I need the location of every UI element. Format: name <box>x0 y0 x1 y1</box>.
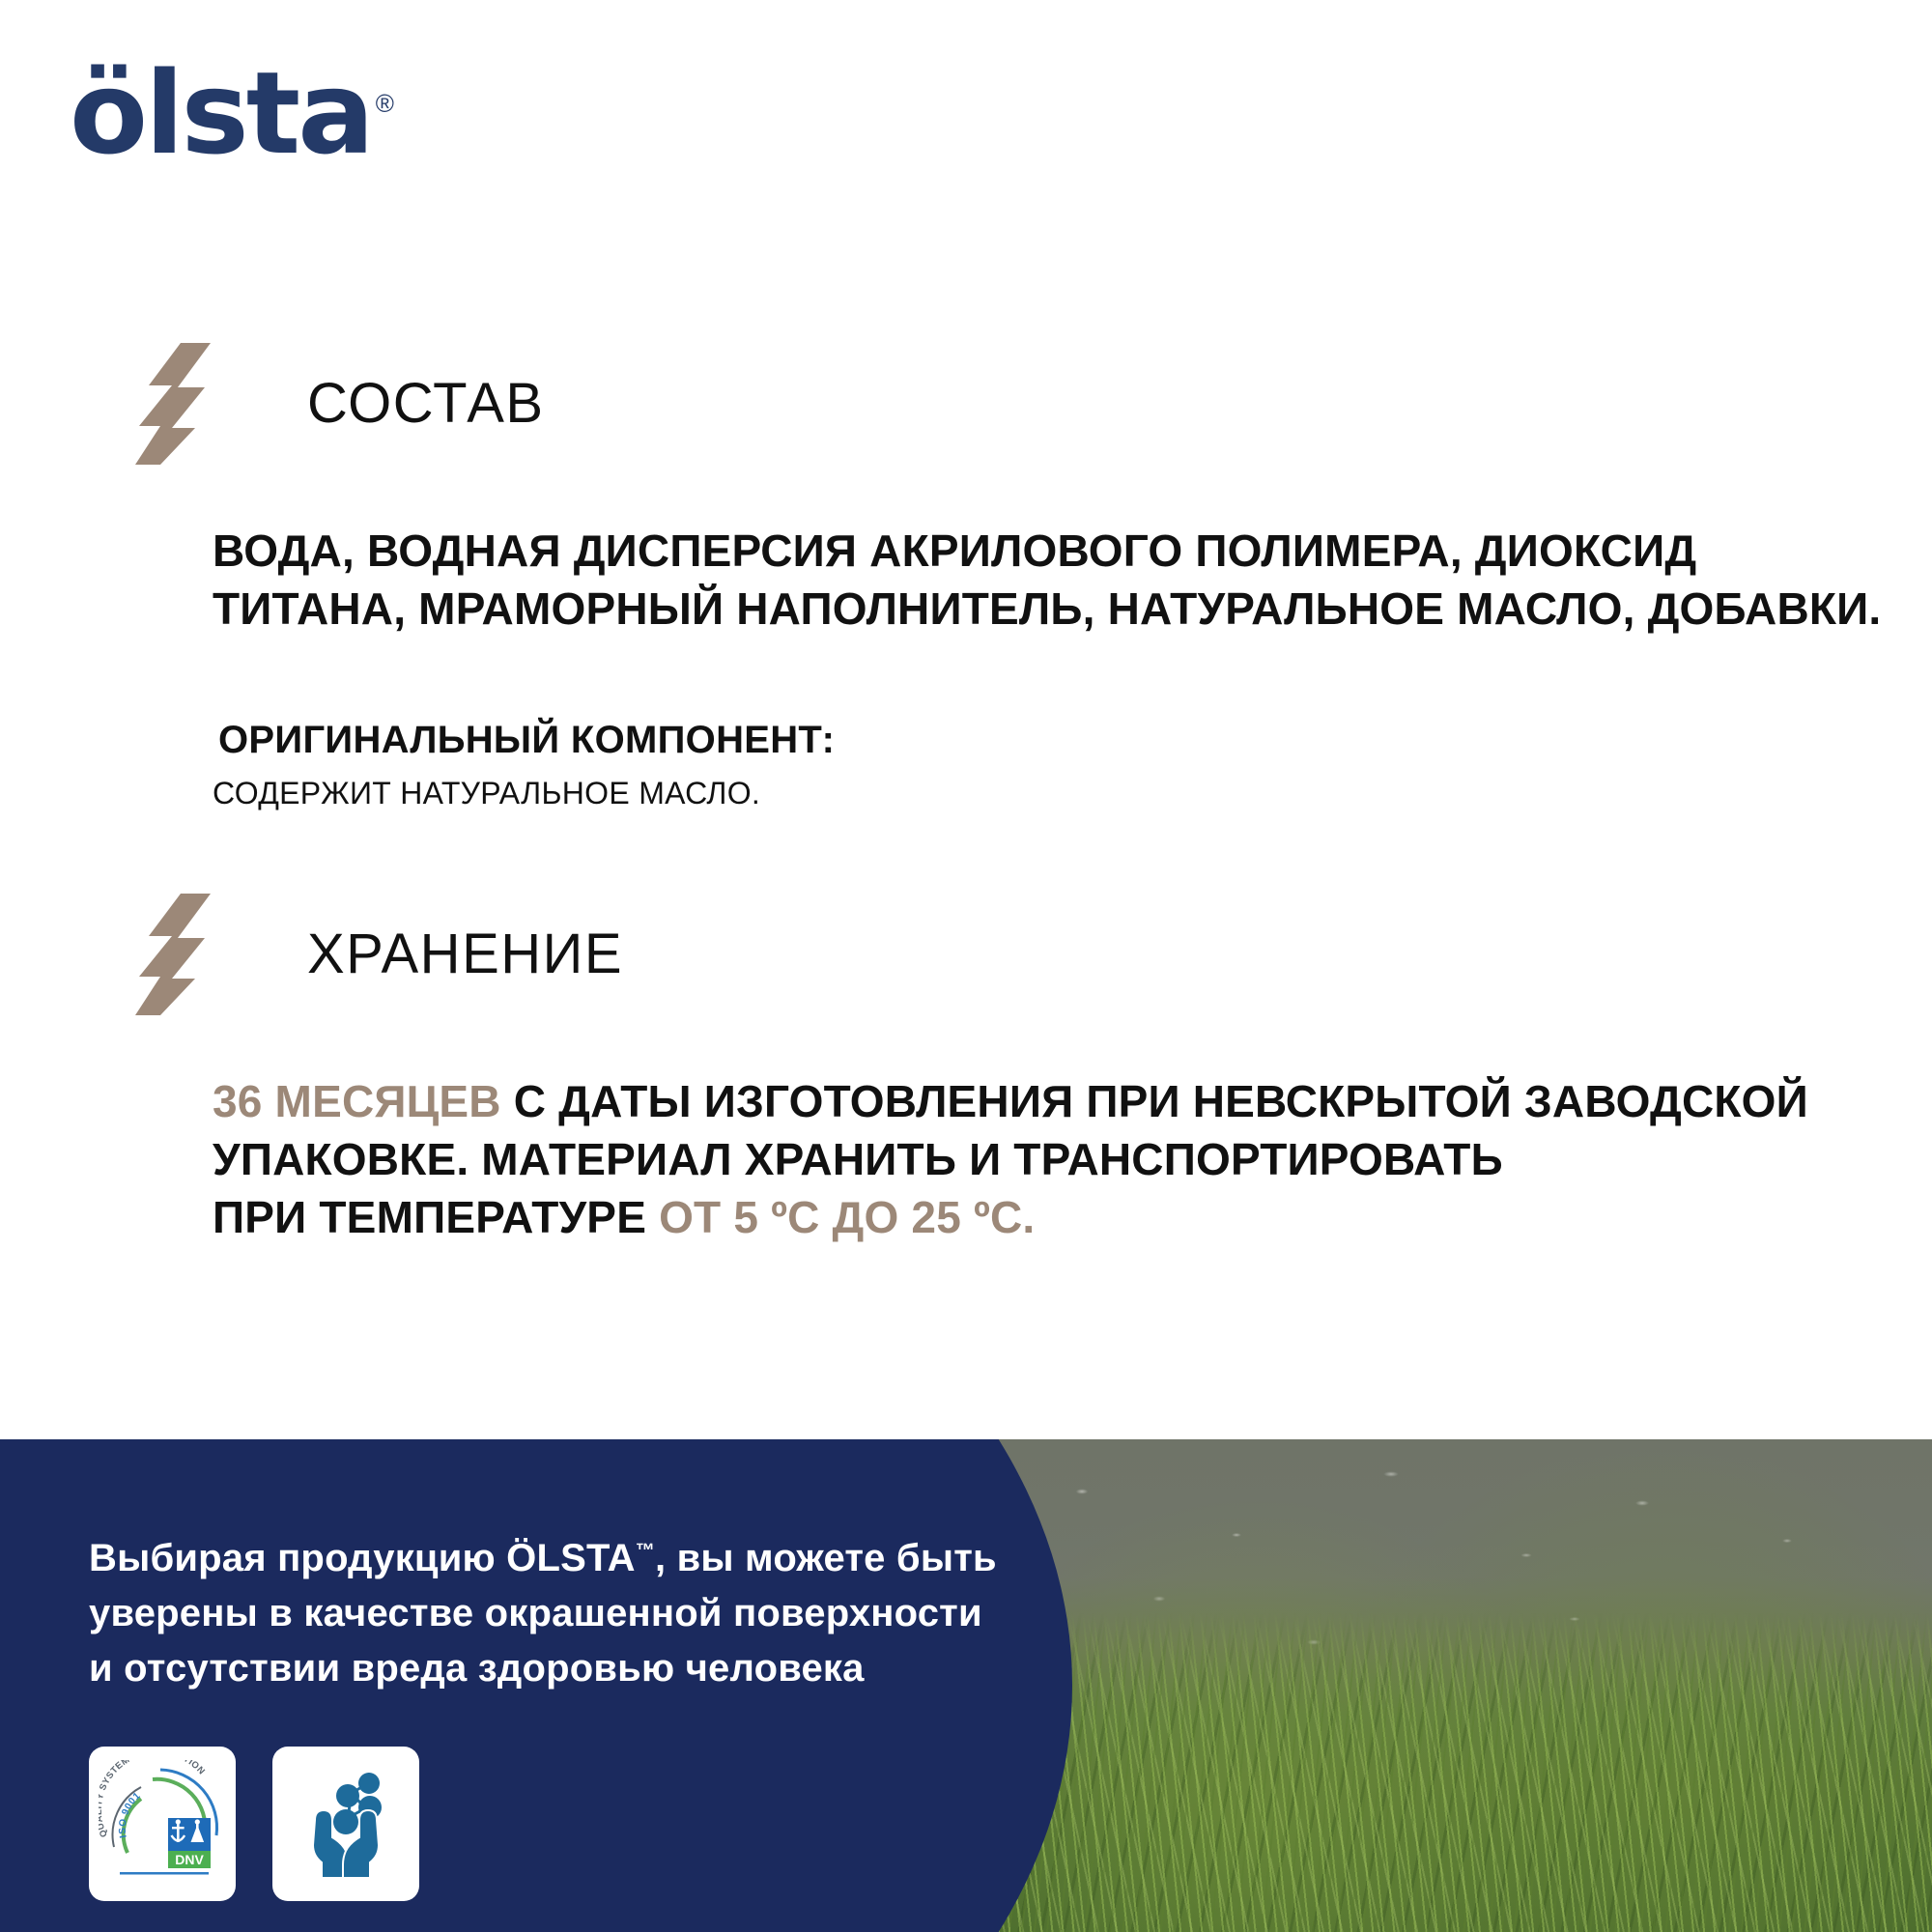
section-composition-header: СОСТАВ <box>0 343 1932 465</box>
composition-line-1: ВОДА, ВОДНАЯ ДИСПЕРСИЯ АКРИЛОВОГО ПОЛИМЕ… <box>213 523 1874 581</box>
original-component-text: СОДЕРЖИТ НАТУРАЛЬНОЕ МАСЛО. <box>213 774 1874 814</box>
hands-molecules-icon <box>288 1764 404 1884</box>
iso-9001-dnv-certification-badge[interactable]: QUALITY SYSTEM CERTIFICATION ISO 9001 <box>89 1747 236 1901</box>
dnv-iso9001-icon: QUALITY SYSTEM CERTIFICATION ISO 9001 <box>99 1760 226 1888</box>
footer-line-1-before: Выбирая продукцию ÖLSTA <box>89 1537 636 1579</box>
storage-line-2: УПАКОВКЕ. МАТЕРИАЛ ХРАНИТЬ И ТРАНСПОРТИР… <box>213 1131 1874 1189</box>
lightning-bolt-icon <box>135 343 211 465</box>
original-component-title: ОРИГИНАЛЬНЫЙ КОМПОНЕНТ: <box>213 716 1874 764</box>
footer-message-line-2: уверены в качестве окрашенной поверхност… <box>89 1586 997 1641</box>
product-info-page: ölsta ® СОСТАВ ВОДА, ВОДНАЯ ДИСПЕРСИЯ АК… <box>0 0 1932 1932</box>
footer-message-line-1: Выбирая продукцию ÖLSTA™, вы можете быть <box>89 1531 997 1586</box>
svg-text:DNV: DNV <box>175 1852 204 1867</box>
logo-wordmark: ölsta <box>70 56 372 170</box>
section-storage-title: ХРАНЕНИЕ <box>307 926 623 982</box>
brand-logo: ölsta ® <box>70 56 394 170</box>
section-composition: СОСТАВ ВОДА, ВОДНАЯ ДИСПЕРСИЯ АКРИЛОВОГО… <box>0 343 1932 813</box>
storage-line-3: ПРИ ТЕМПЕРАТУРЕ ОТ 5 ºC ДО 25 ºC. <box>213 1189 1874 1247</box>
trademark-icon: ™ <box>636 1541 655 1562</box>
footer-message-line-3: и отсутствии вреда здоровью человека <box>89 1641 997 1696</box>
storage-line-1-rest: С ДАТЫ ИЗГОТОВЛЕНИЯ ПРИ НЕВСКРЫТОЙ ЗАВОД… <box>501 1076 1808 1126</box>
footer-message: Выбирая продукцию ÖLSTA™, вы можете быть… <box>89 1531 997 1695</box>
section-composition-title: СОСТАВ <box>307 376 545 432</box>
svg-text:ISO 9001: ISO 9001 <box>118 1790 143 1838</box>
storage-temperature-value: ОТ 5 ºC ДО 25 ºC. <box>659 1192 1035 1242</box>
storage-line-1: 36 МЕСЯЦЕВ С ДАТЫ ИЗГОТОВЛЕНИЯ ПРИ НЕВСК… <box>213 1073 1874 1131</box>
hands-holding-molecules-eco-safety-badge[interactable] <box>272 1747 419 1901</box>
composition-line-2: ТИТАНА, МРАМОРНЫЙ НАПОЛНИТЕЛЬ, НАТУРАЛЬН… <box>213 581 1874 639</box>
certification-badges: QUALITY SYSTEM CERTIFICATION ISO 9001 <box>89 1747 419 1901</box>
storage-shelf-life-value: 36 МЕСЯЦЕВ <box>213 1076 501 1126</box>
grass-wall-photo <box>966 1439 1932 1932</box>
footer-line-1-after: , вы можете быть <box>655 1537 997 1579</box>
section-storage: ХРАНЕНИЕ 36 МЕСЯЦЕВ С ДАТЫ ИЗГОТОВЛЕНИЯ … <box>0 894 1932 1246</box>
grass-texture-overlay <box>966 1613 1932 1932</box>
lightning-bolt-icon <box>135 894 211 1015</box>
storage-temperature-label: ПРИ ТЕМПЕРАТУРЕ <box>213 1192 659 1242</box>
registered-trademark-icon: ® <box>376 89 394 119</box>
original-component-block: ОРИГИНАЛЬНЫЙ КОМПОНЕНТ: СОДЕРЖИТ НАТУРАЛ… <box>213 716 1874 814</box>
section-storage-body: 36 МЕСЯЦЕВ С ДАТЫ ИЗГОТОВЛЕНИЯ ПРИ НЕВСК… <box>0 1073 1932 1246</box>
section-composition-body: ВОДА, ВОДНАЯ ДИСПЕРСИЯ АКРИЛОВОГО ПОЛИМЕ… <box>0 523 1932 813</box>
footer-banner: Выбирая продукцию ÖLSTA™, вы можете быть… <box>0 1439 1932 1932</box>
section-storage-header: ХРАНЕНИЕ <box>0 894 1932 1015</box>
